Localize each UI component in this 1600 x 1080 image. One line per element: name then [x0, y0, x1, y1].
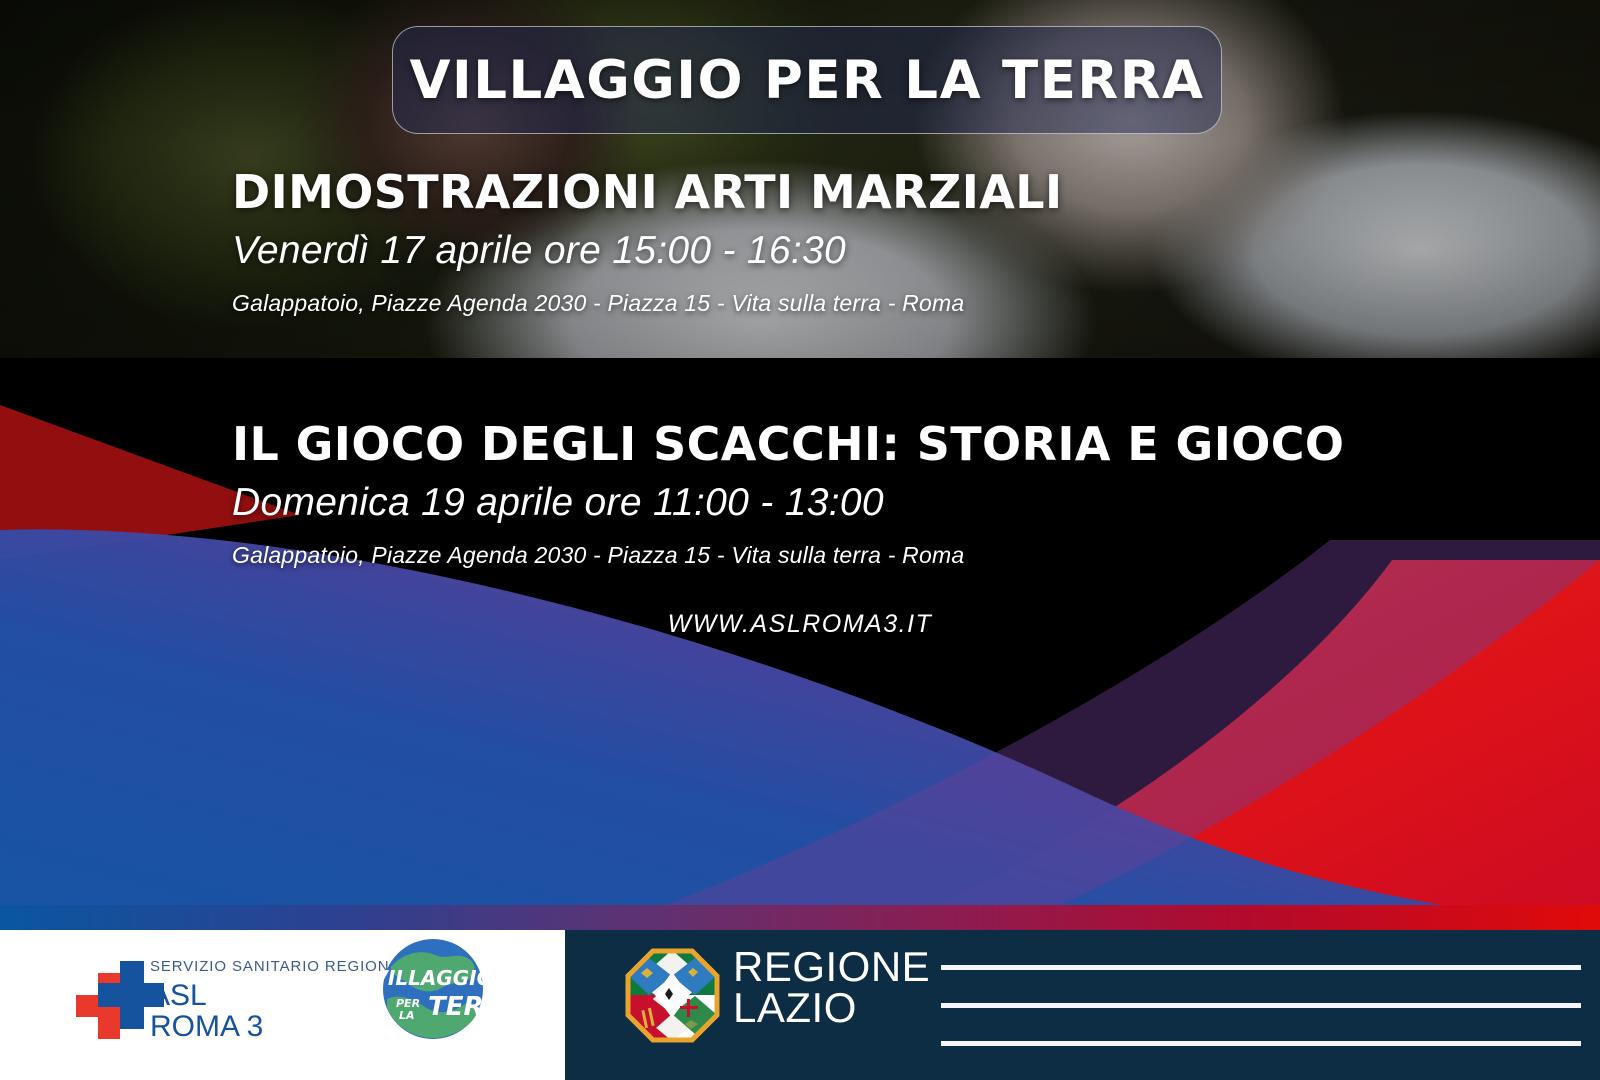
event-block-2: IL GIOCO DEGLI SCACCHI: STORIA E GIOCO D…	[232, 420, 1592, 569]
villaggio-logo-line-1: VILLAGGIO	[373, 966, 493, 990]
website-url[interactable]: WWW.ASLROMA3.IT	[0, 610, 1600, 639]
villaggio-logo-la: LA	[399, 1009, 415, 1022]
footer-rule-2	[941, 1003, 1581, 1008]
event-1-venue: Galappatoio, Piazze Agenda 2030 - Piazza…	[232, 290, 1592, 317]
page-title: VILLAGGIO PER LA TERRA	[409, 50, 1204, 111]
event-block-1: DIMOSTRAZIONI ARTI MARZIALI Venerdì 17 a…	[232, 168, 1592, 317]
footer-rule-3	[941, 1041, 1581, 1046]
event-1-datetime: Venerdì 17 aprile ore 15:00 - 16:30	[232, 229, 1592, 273]
footer-gradient-bar	[0, 905, 1600, 930]
lazio-name-line-2: LAZIO	[733, 987, 930, 1028]
header-title-pill: VILLAGGIO PER LA TERRA	[392, 26, 1222, 134]
villaggio-globe-icon: VILLAGGIO PER LA TERRA	[373, 933, 493, 1045]
event-2-title: IL GIOCO DEGLI SCACCHI: STORIA E GIOCO	[232, 420, 1592, 468]
regione-lazio-text: REGIONE LAZIO	[733, 946, 930, 1028]
regione-lazio-emblem-icon	[625, 948, 720, 1043]
event-1-title: DIMOSTRAZIONI ARTI MARZIALI	[232, 168, 1592, 216]
lazio-name-line-1: REGIONE	[733, 946, 930, 987]
footer-rule-lines	[941, 965, 1581, 1046]
poster: VILLAGGIO PER LA TERRA DIMOSTRAZIONI ART…	[0, 0, 1600, 1080]
villaggio-logo-line-2: TERRA	[428, 992, 493, 1022]
footer-rule-1	[941, 965, 1581, 970]
event-2-datetime: Domenica 19 aprile ore 11:00 - 13:00	[232, 481, 1592, 525]
event-2-venue: Galappatoio, Piazze Agenda 2030 - Piazza…	[232, 542, 1592, 569]
